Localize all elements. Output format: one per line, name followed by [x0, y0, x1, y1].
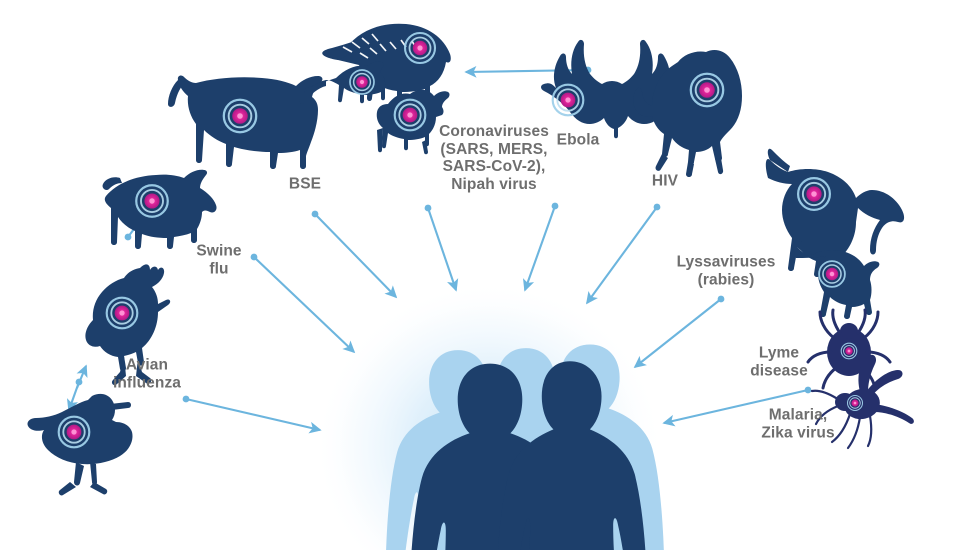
label-bse: BSE [289, 175, 321, 193]
label-swine-flu: Swine flu [196, 243, 241, 278]
label-ebola: Ebola [557, 131, 600, 149]
zoonotic-transmission-diagram: BSE Coronaviruses (SARS, MERS, SARS-CoV-… [0, 0, 978, 550]
label-avian-influenza: Avian influenza [113, 357, 181, 392]
label-hiv: HIV [652, 172, 678, 190]
label-malaria-zika: Malaria, Zika virus [761, 407, 834, 442]
label-coronaviruses: Coronaviruses (SARS, MERS, SARS-CoV-2), … [439, 123, 549, 193]
label-lyme-disease: Lyme disease [750, 345, 808, 380]
disease-labels-layer: BSE Coronaviruses (SARS, MERS, SARS-CoV-… [0, 0, 978, 550]
label-lyssaviruses: Lyssaviruses (rabies) [677, 254, 776, 289]
